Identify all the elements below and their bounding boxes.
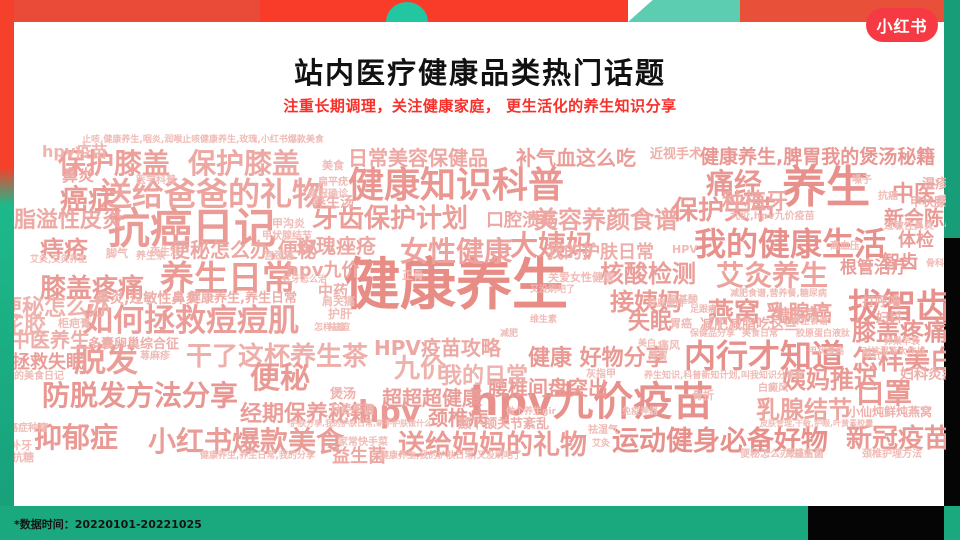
word-cloud-term: 医学科普 — [136, 176, 176, 186]
word-cloud-term: 便秘 — [250, 364, 310, 394]
word-cloud-term: 灰指甲 — [586, 370, 616, 380]
word-cloud-term: 做个养生gir — [506, 408, 556, 417]
page-subtitle: 注重长期调理，关注健康家庭， 更生活化的养生知识分享 — [0, 95, 960, 116]
word-cloud-term: 送给爸爸的礼物 — [100, 178, 324, 210]
word-cloud-term: 骨折 — [692, 390, 714, 401]
word-cloud-term: 养生 — [782, 166, 870, 210]
word-cloud-term: 健康知识科普 — [348, 168, 564, 204]
word-cloud-term: 正骨 — [402, 270, 424, 281]
word-cloud-term: 蛀牙怎么治 — [282, 276, 327, 285]
word-cloud-term: 脂溢性皮炎 — [14, 210, 124, 232]
word-cloud-term: 月经不调 — [330, 404, 374, 415]
word-cloud-term: 脚气 — [106, 248, 128, 259]
word-cloud-term: 健康 好物分享 — [528, 348, 668, 370]
word-cloud-term: 补牙 — [14, 440, 32, 451]
word-cloud-term: 我的日常 — [440, 366, 528, 388]
word-cloud-term: 艾灸 — [592, 440, 610, 449]
word-cloud-term: 打呼噜 — [862, 296, 901, 309]
word-cloud-term: 痛风 — [658, 340, 680, 351]
word-cloud-term: 益生菌 — [332, 448, 386, 466]
word-cloud-term: 皮肤管理,干敏,护眼,叶黄素胶囊 — [760, 420, 873, 428]
slide-canvas: 小红书 站内医疗健康品类热门话题 注重长期调理，关注健康家庭， 更生活化的养生知… — [0, 0, 960, 540]
right-black-strip — [944, 238, 960, 506]
word-cloud-term: 减肥食谱,营养餐,糖尿病 — [730, 290, 827, 299]
word-cloud-term: 甲沟炎 — [272, 218, 305, 229]
word-cloud-term: 荨麻疹 — [140, 352, 170, 362]
word-cloud-term: 近视手术 — [650, 148, 702, 161]
word-cloud-term: 鼻炎,过敏性鼻炎 — [96, 292, 199, 306]
word-cloud-term: 花胶 — [14, 316, 46, 338]
word-cloud-term: 口腔溃疡 — [486, 212, 558, 230]
word-cloud-term: 抗癌 — [878, 192, 898, 202]
word-cloud-term: 养胃 — [648, 352, 668, 362]
top-bar-segment-red-2 — [28, 0, 260, 22]
page-title: 站内医疗健康品类热门话题 — [0, 50, 960, 92]
bottom-black-strip — [808, 506, 944, 540]
word-cloud-term: HPV — [672, 244, 698, 255]
word-cloud-term: 肩关痛 — [322, 296, 355, 307]
word-cloud-term: 扁平疣 — [318, 178, 348, 188]
word-cloud-term: 夜生活 — [150, 248, 180, 258]
word-cloud-term: 艾灸,艾灸养生 — [30, 256, 87, 265]
word-cloud-term: 小仙炖鲜炖燕窝 — [848, 406, 932, 418]
word-cloud-term: 妇科炎症 — [900, 368, 946, 382]
word-cloud-term: 免疫神器 — [622, 408, 658, 417]
word-cloud-term: 腰痛病 — [786, 450, 813, 459]
word-cloud-term: 根管治疗 — [840, 260, 908, 277]
word-cloud-term: 妇科 — [876, 312, 902, 325]
word-cloud-term: 健康养生,我的护肤日常,又没刷吧了 — [380, 452, 522, 461]
word-cloud-term: 健康养生,养生日常 — [188, 292, 297, 305]
word-cloud-term: 胶原蛋白 — [648, 300, 684, 309]
word-cloud-term: 白癜风 — [758, 384, 788, 394]
xiaohongshu-logo[interactable]: 小红书 — [866, 8, 938, 42]
word-cloud-term: 防脱发方法分享 — [42, 382, 238, 410]
word-cloud-term: 失眠 — [628, 312, 672, 334]
word-cloud-term: 保健品分享 — [690, 330, 735, 339]
word-cloud-term: 九价,hpv九价疫苗 — [730, 212, 815, 222]
word-cloud-term: 美白 — [638, 340, 656, 349]
word-cloud-term: 体检 — [898, 232, 934, 250]
word-cloud-term: 便秘怎么办,便秘 — [170, 240, 318, 260]
word-cloud-term: 抗糖 — [14, 452, 34, 463]
word-cloud-term: 保护膝盖 — [188, 150, 300, 178]
word-cloud-term: 关爱女性健康 — [548, 272, 614, 283]
word-cloud-term: 减肥 — [500, 330, 518, 339]
word-cloud-term: 艾灸养生 — [716, 262, 828, 290]
word-cloud-term: 骨科 — [926, 260, 944, 269]
word-cloud-term: hpv疫苗 — [42, 144, 107, 160]
word-cloud-term: 家常快手菜 — [338, 438, 388, 448]
word-cloud-term: 又没刷吧了 — [530, 286, 575, 295]
word-cloud-term: 煲汤 — [330, 388, 356, 401]
word-cloud-term: 湿疹 — [922, 178, 946, 191]
word-cloud-term: 九价 — [394, 356, 446, 382]
word-cloud-term: 我的护肤日常 — [546, 244, 654, 262]
word-cloud-term: 维生素 — [530, 316, 557, 325]
word-cloud-term: 补气血这么吃 — [516, 148, 636, 168]
word-cloud-term: 止咳,健康养生,咽炎,润喉止咳 — [82, 136, 200, 145]
word-cloud-term: 卵巢早衰 — [884, 338, 920, 347]
word-cloud-term: 养生食谱 — [792, 318, 828, 327]
word-cloud-term: 柜疤膏 — [58, 318, 91, 329]
word-cloud-term: 甲状腺癌 — [808, 348, 844, 357]
word-cloud-term: 对抗湿疹大作战 — [862, 348, 925, 357]
word-cloud-term: 多囊卵巢综合征 — [88, 338, 179, 351]
word-cloud-term: 护肝 — [328, 308, 352, 320]
data-period-note: *数据时间：20220101-20221025 — [14, 516, 202, 532]
word-cloud-term: 癌症种瘤 — [14, 424, 48, 434]
word-cloud-term: 女性健康 — [400, 238, 512, 266]
word-cloud-term: 养生知识,科普新知计划,叫我知识分享家 — [644, 372, 804, 381]
word-cloud-term: 过敏性鼻炎 — [884, 222, 934, 232]
word-cloud-term: 日常美容保健品 — [348, 148, 488, 168]
word-cloud-term: 咳嗽 — [938, 196, 946, 206]
word-cloud-term: 健康养生,玫瑰,小红书爆款美食 — [200, 136, 324, 145]
word-cloud-term: 颈椎护理方法 — [862, 450, 922, 460]
word-cloud-term: 我的美食日记 — [14, 372, 64, 382]
word-cloud-term: 高血压 — [830, 242, 860, 252]
word-cloud-term: 新冠确诊 — [308, 190, 348, 200]
word-cloud-term: 健康养生,脾胃我的煲汤秘籍 — [700, 148, 935, 167]
word-cloud-term: 甲状腺结节 — [262, 232, 312, 242]
word-cloud-term: 足跟痛 — [690, 306, 717, 315]
word-cloud-term: 如何拯救痘痘肌 — [82, 306, 299, 337]
word-cloud-term: 鼻炎 — [62, 168, 94, 184]
word-cloud-term: 宫颈癌 — [264, 252, 294, 262]
word-cloud-term: 怎样祛痘 — [314, 324, 350, 333]
word-cloud-term: 颞下颌关节紊乱 — [458, 418, 549, 431]
top-bar-teal-parallelogram — [628, 0, 740, 22]
word-cloud-term: 健康养生,养生日常,我的分享 — [200, 452, 315, 461]
word-cloud-term: 拯救失眠 — [14, 354, 84, 372]
word-cloud-term: 祛湿气 — [588, 426, 618, 436]
word-cloud-term: 美食 — [322, 160, 344, 171]
word-cloud-term: 护肤分享,我的护肤日常,新手护肤做什么 — [290, 420, 432, 428]
word-cloud-term: 嗓子 — [852, 176, 872, 186]
word-cloud-term: 胃癌 — [670, 318, 692, 329]
word-cloud-term: 胶原蛋白液肽 — [796, 330, 850, 339]
word-cloud: 健康养生hpv九价疫苗抗癌日记养生健康知识科普送给爸爸的礼物养生日常我的健康生活… — [14, 126, 946, 466]
top-decoration-bar — [0, 0, 960, 22]
top-bar-segment-red-3 — [260, 0, 628, 22]
word-cloud-term: 核酸检测 — [600, 262, 696, 286]
word-cloud-term: 美食日常 — [742, 330, 778, 339]
